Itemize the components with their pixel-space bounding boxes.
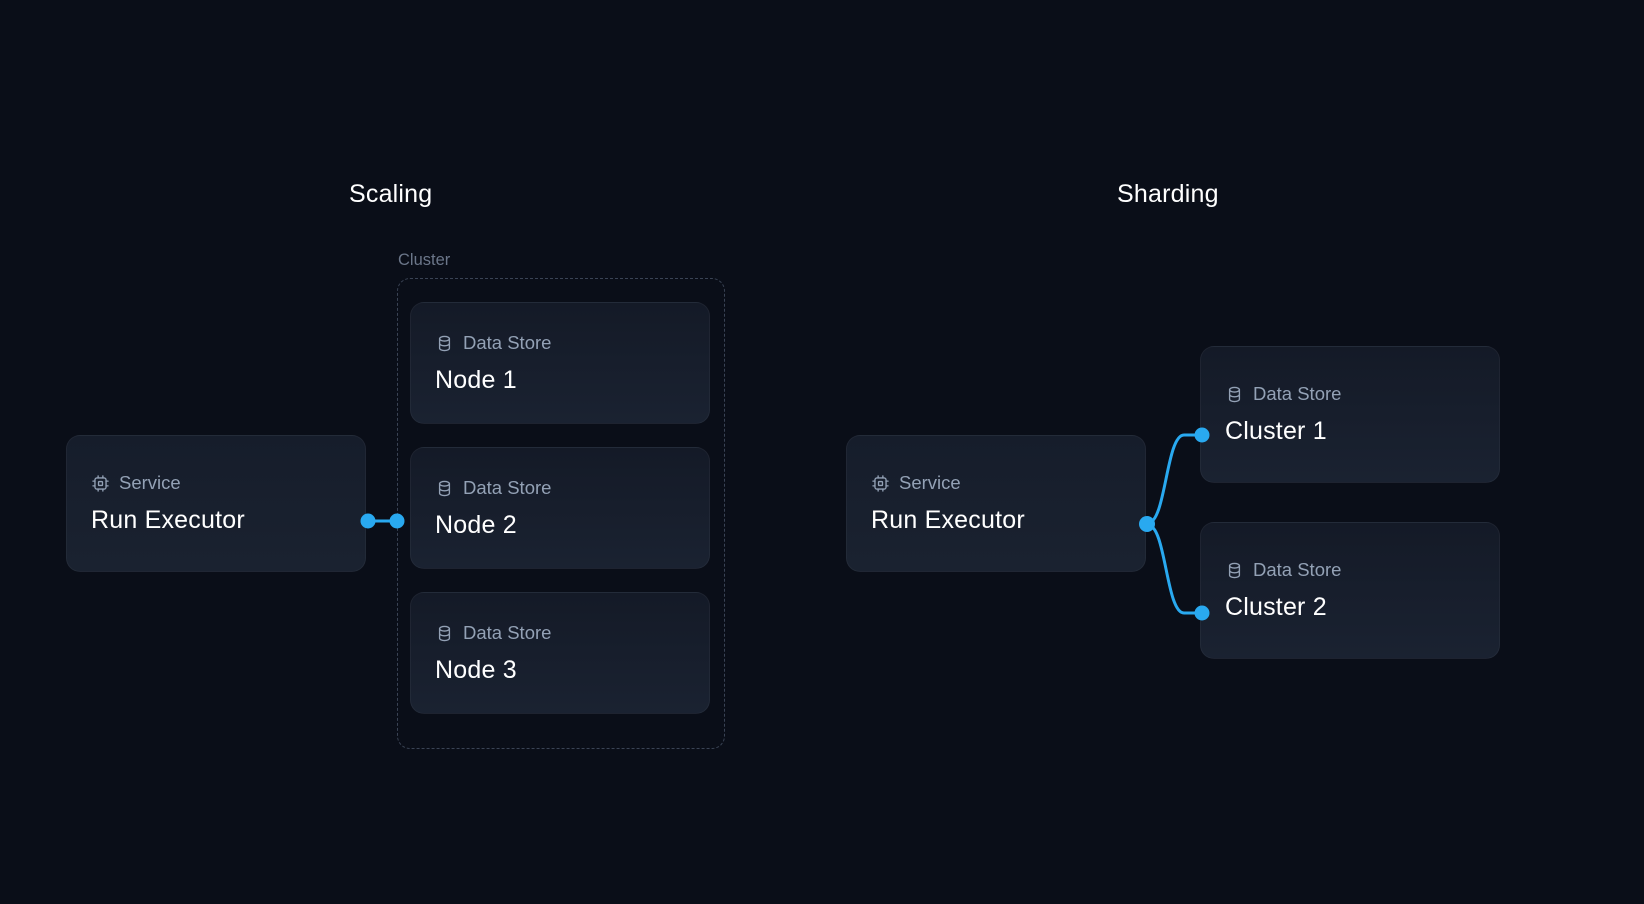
node-card-service-run-executor-sharding[interactable]: Service Run Executor (846, 435, 1146, 572)
node-card-data-store-node-1[interactable]: Data Store Node 1 (410, 302, 710, 424)
node-kind-label: Data Store (463, 334, 551, 353)
node-kind-label: Service (119, 474, 181, 493)
node-kind-label: Service (899, 474, 961, 493)
node-kind-row: Data Store (1225, 561, 1481, 580)
node-card-data-store-node-3[interactable]: Data Store Node 3 (410, 592, 710, 714)
node-title-label: Cluster 2 (1225, 595, 1481, 620)
node-card-data-store-node-2[interactable]: Data Store Node 2 (410, 447, 710, 569)
node-card-content: Data Store Node 1 (435, 303, 691, 423)
database-icon (435, 624, 454, 643)
edge-service-to-cluster-1 (1148, 435, 1200, 523)
node-card-content: Service Run Executor (871, 436, 1127, 571)
node-kind-label: Data Store (1253, 385, 1341, 404)
database-icon (1225, 385, 1244, 404)
section-title-sharding: Sharding (1117, 180, 1219, 209)
node-kind-row: Data Store (435, 479, 691, 498)
cluster-group-label: Cluster (398, 251, 450, 270)
node-card-service-run-executor-scaling[interactable]: Service Run Executor (66, 435, 366, 572)
cpu-icon (871, 474, 890, 493)
node-kind-row: Data Store (435, 334, 691, 353)
node-kind-row: Data Store (1225, 385, 1481, 404)
node-kind-row: Data Store (435, 624, 691, 643)
node-card-content: Data Store Node 2 (435, 448, 691, 568)
node-card-data-store-cluster-2[interactable]: Data Store Cluster 2 (1200, 522, 1500, 659)
diagram-canvas: Scaling Sharding Cluster (0, 0, 1644, 904)
node-title-label: Node 2 (435, 513, 691, 538)
node-card-data-store-cluster-1[interactable]: Data Store Cluster 1 (1200, 346, 1500, 483)
database-icon (435, 479, 454, 498)
section-title-scaling: Scaling (349, 180, 432, 209)
node-kind-row: Service (871, 474, 1127, 493)
cpu-icon (91, 474, 110, 493)
node-kind-label: Data Store (463, 479, 551, 498)
node-kind-label: Data Store (463, 624, 551, 643)
node-title-label: Run Executor (871, 508, 1127, 533)
database-icon (1225, 561, 1244, 580)
node-card-content: Data Store Cluster 2 (1225, 523, 1481, 658)
node-kind-label: Data Store (1253, 561, 1341, 580)
node-title-label: Run Executor (91, 508, 347, 533)
node-card-content: Data Store Cluster 1 (1225, 347, 1481, 482)
database-icon (435, 334, 454, 353)
edge-service-to-cluster-2 (1148, 525, 1200, 613)
node-title-label: Cluster 1 (1225, 419, 1481, 444)
node-title-label: Node 3 (435, 658, 691, 683)
node-kind-row: Service (91, 474, 347, 493)
node-card-content: Data Store Node 3 (435, 593, 691, 713)
node-card-content: Service Run Executor (91, 436, 347, 571)
node-title-label: Node 1 (435, 368, 691, 393)
